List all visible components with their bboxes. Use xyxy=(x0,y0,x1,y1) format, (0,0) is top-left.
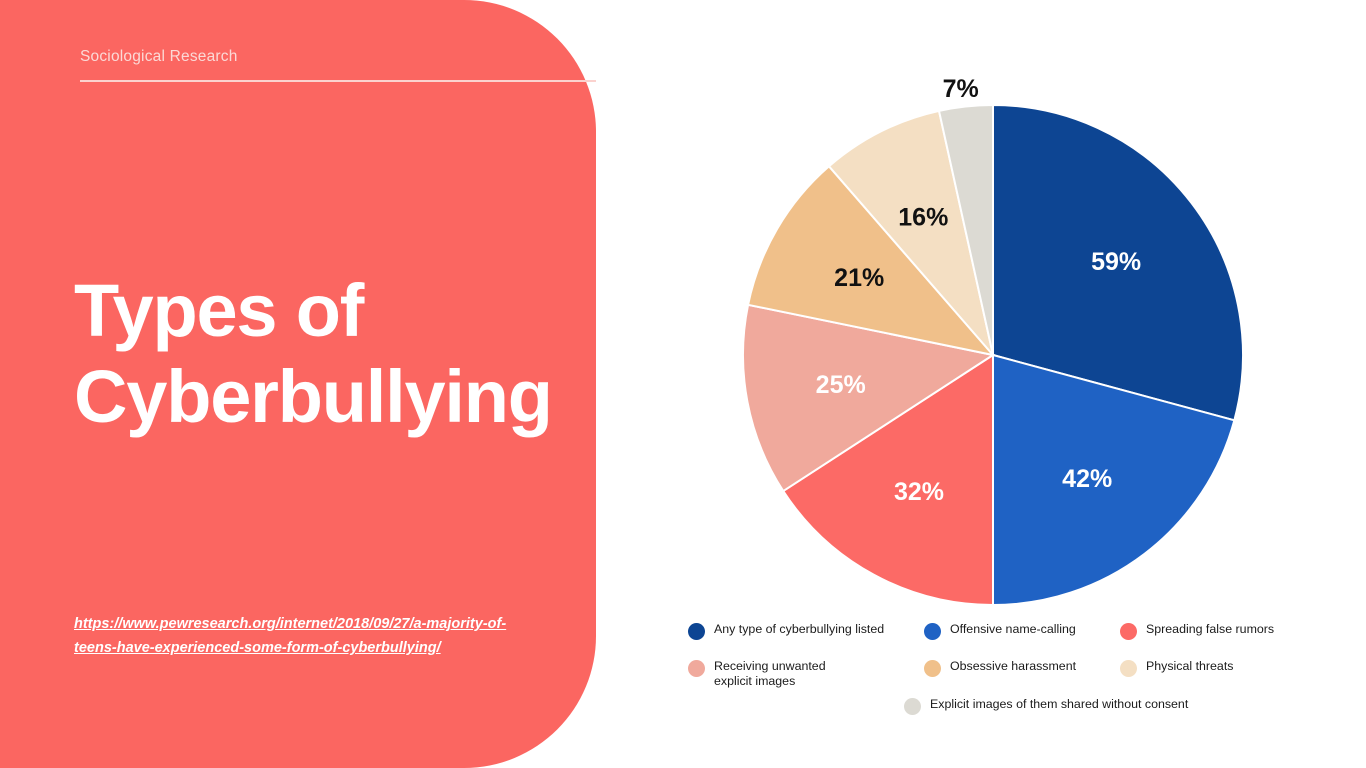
pie-slice-value-label: 59% xyxy=(1091,248,1141,276)
legend-swatch-icon xyxy=(904,698,921,715)
legend-item[interactable]: Any type of cyberbullying listed xyxy=(688,622,884,640)
legend-swatch-icon xyxy=(924,660,941,677)
page-title-line-1: Types of xyxy=(74,268,574,354)
eyebrow-label: Sociological Research xyxy=(80,48,238,66)
legend-item[interactable]: Physical threats xyxy=(1120,659,1233,677)
legend-item-label: Receiving unwanted explicit images xyxy=(714,659,826,689)
legend-item[interactable]: Receiving unwanted explicit images xyxy=(688,659,826,689)
slide-canvas: Sociological Research Types of Cyberbull… xyxy=(0,0,1366,768)
legend-swatch-icon xyxy=(1120,623,1137,640)
legend-item-label: Physical threats xyxy=(1146,659,1233,674)
pie-slice-group xyxy=(743,105,1243,605)
legend-swatch-icon xyxy=(688,623,705,640)
eyebrow-divider xyxy=(80,80,596,82)
legend-swatch-icon xyxy=(1120,660,1137,677)
page-title-line-2: Cyberbullying xyxy=(74,354,574,440)
legend-item[interactable]: Obsessive harassment xyxy=(924,659,1076,677)
legend-item[interactable]: Spreading false rumors xyxy=(1120,622,1274,640)
pie-slice-value-label: 42% xyxy=(1062,465,1112,493)
pie-chart: 59%42%32%25%21%16%7% xyxy=(640,0,1366,620)
pie-slice-value-label: 7% xyxy=(943,75,979,103)
pie-slice-value-label: 32% xyxy=(894,478,944,506)
legend-item-label: Offensive name-calling xyxy=(950,622,1076,637)
pie-slice-value-label: 21% xyxy=(834,264,884,292)
pie-chart-svg: 59%42%32%25%21%16%7% xyxy=(640,0,1366,620)
legend-item-label: Obsessive harassment xyxy=(950,659,1076,674)
legend-item[interactable]: Explicit images of them shared without c… xyxy=(904,697,1188,715)
legend-item-label: Any type of cyberbullying listed xyxy=(714,622,884,637)
title-panel: Sociological Research Types of Cyberbull… xyxy=(0,0,596,768)
pie-slice-value-label: 25% xyxy=(816,371,866,399)
legend-swatch-icon xyxy=(688,660,705,677)
chart-area: 59%42%32%25%21%16%7% Any type of cyberbu… xyxy=(640,0,1366,768)
legend-swatch-icon xyxy=(924,623,941,640)
legend-item[interactable]: Offensive name-calling xyxy=(924,622,1076,640)
legend-item-label: Spreading false rumors xyxy=(1146,622,1274,637)
page-title: Types of Cyberbullying xyxy=(74,268,574,440)
legend-item-label: Explicit images of them shared without c… xyxy=(930,697,1188,712)
chart-legend: Any type of cyberbullying listedOffensiv… xyxy=(688,622,1348,742)
source-url-link[interactable]: https://www.pewresearch.org/internet/201… xyxy=(74,612,544,660)
pie-slice-value-label: 16% xyxy=(898,204,948,232)
